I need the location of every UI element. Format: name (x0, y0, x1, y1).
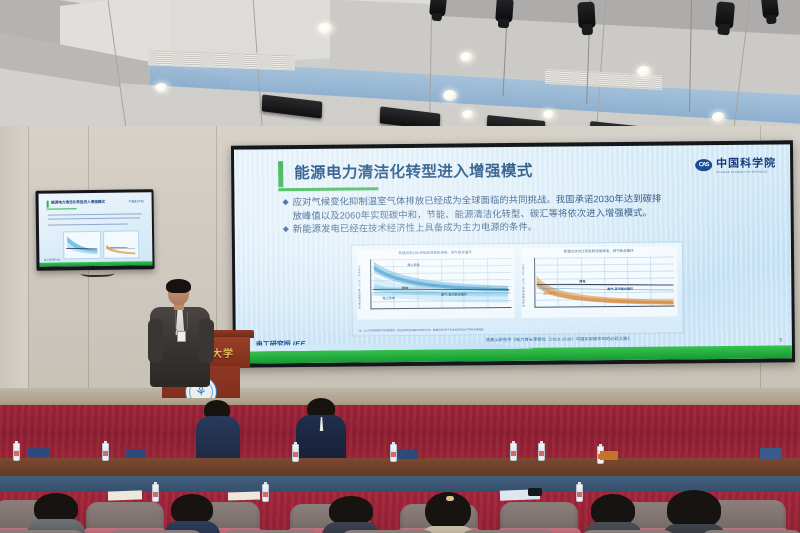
document-on-desk (108, 490, 142, 500)
audience-person (590, 494, 636, 533)
chart-title: 新建光伏对比现役和增量煤电、燃气联合循环 (520, 247, 677, 254)
cas-name: 中国科学院 (716, 154, 776, 171)
document-on-desk (228, 491, 260, 500)
audience-person (33, 493, 79, 533)
bullet-diamond-icon: ◆ (282, 196, 288, 208)
cas-seal-icon: CAS (695, 159, 712, 171)
ceiling-downlight-icon (443, 90, 457, 101)
bullet-diamond-icon: ◆ (283, 223, 289, 235)
slide-footer-bar (236, 345, 792, 363)
speaker-person (150, 281, 212, 401)
slide-citation: 落基山研究所《电力增长零碳化（2020-2030）中国实现碳中和的必经之路》 (346, 335, 772, 345)
projection-screen-frame: 能源电力清洁化转型进入增强模式 CAS 中国科学院 CHINESE ACADEM… (231, 140, 795, 367)
audience-person (170, 494, 214, 533)
audience-person (666, 490, 722, 533)
water-bottle (152, 484, 159, 502)
water-bottle (538, 443, 545, 461)
ceiling-downlight-icon (712, 112, 725, 122)
chart-series-label: 燃气-蒸汽联合循环 (607, 287, 633, 291)
monitor-footer-bar (39, 261, 152, 267)
monitor-cas-logo: 中国科学院 (129, 199, 145, 203)
hair-tie (446, 496, 454, 501)
cas-subname: CHINESE ACADEMY OF SCIENCES (716, 170, 776, 175)
phone-on-desk (528, 488, 542, 496)
water-bottle (13, 443, 20, 461)
water-bottle (262, 484, 269, 502)
chart-title: 新建风电对比现役和增量和煤电、燃气联合循环 (357, 249, 514, 256)
ceiling-downlight-icon (155, 83, 168, 92)
chart-solar: 新建光伏对比现役和增量煤电、燃气联合循环 平准化度电成本 LCOE（元/kWh） (520, 246, 677, 317)
audience-person (196, 400, 240, 460)
speaker-hair (166, 279, 191, 293)
chart-wind: 新建风电对比现役和增量和煤电、燃气联合循环 平准化度电成本 LCOE（元/kWh… (357, 248, 514, 319)
stage-light-icon (577, 2, 595, 29)
stage-light-icon (761, 0, 779, 19)
projection-screen: 能源电力清洁化转型进入增强模式 CAS 中国科学院 CHINESE ACADEM… (234, 144, 792, 363)
name-card (398, 450, 418, 459)
chart-series-label: 陆上风电 (383, 296, 395, 300)
slide-bullets: ◆ 应对气候变化抑制温室气体排放已经成为全球面临的共同挑战。我国承诺2030年达… (282, 191, 774, 237)
ceiling-downlight-icon (462, 110, 474, 119)
chart-y-axis-label: 平准化度电成本 LCOE（元/kWh） (522, 262, 526, 307)
audience-seat (86, 502, 164, 533)
ceiling-downlight-icon (460, 52, 473, 62)
title-accent-bar (278, 161, 283, 187)
speaker-arm-right (199, 319, 214, 363)
chart-plot-area: 煤电 光伏发电 燃气-蒸汽联合循环 0.70.6 0.50.4 0.30.2 0… (534, 256, 675, 307)
audience-person (328, 496, 374, 533)
ceiling-downlight-icon (637, 66, 651, 77)
audience-person (424, 492, 472, 533)
chart-series-label: 燃气-蒸汽联合循环 (441, 293, 467, 297)
audience-seat (500, 502, 578, 533)
chart-series-label: 煤电 (402, 286, 408, 290)
name-card (126, 449, 146, 458)
stage-light-icon (495, 0, 514, 23)
speaker-badge (177, 331, 186, 342)
chart-series-label: 光伏发电 (543, 292, 555, 296)
chart-series-label: 煤电 (579, 279, 585, 283)
name-card (600, 451, 618, 460)
chart-y-axis-label: 平准化度电成本 LCOE（元/kWh） (358, 263, 362, 308)
chart-series-label: 海上风电 (407, 263, 419, 267)
speaker-lanyard (175, 311, 188, 331)
monitor-slide-title: 能源电力清洁化转型进入增强模式 (51, 199, 105, 205)
slide-page-number: 3 (779, 337, 782, 343)
water-bottle (292, 444, 299, 462)
bullet-text: 新能源发电已经在技术经济性上具备成为主力电源的条件。 (293, 221, 537, 236)
audience-area (0, 406, 800, 533)
cas-logo: CAS 中国科学院 CHINESE ACADEMY OF SCIENCES (695, 154, 776, 175)
confidence-monitor-screen: 能源电力清洁化转型进入增强模式 中国科学院 电工研究所 IEE (38, 192, 152, 267)
water-bottle (576, 484, 583, 502)
cas-seal-text: CAS (699, 162, 709, 168)
water-bottle (390, 444, 397, 462)
name-card (28, 448, 50, 457)
monitor-title-rule (46, 208, 76, 209)
stage-light-icon (715, 1, 735, 28)
speaker-arm-left (148, 319, 163, 363)
monitor-cable (81, 268, 115, 277)
name-card (760, 448, 782, 459)
ceiling-downlight-icon (543, 110, 555, 119)
water-bottle (510, 443, 517, 461)
chart-plot-area: 海上风电 煤电 陆上风电 燃气-蒸汽联合循环 0.70.6 0.50.4 0.3… (370, 258, 511, 309)
monitor-title-accent (46, 200, 48, 207)
ceiling-downlight-icon (318, 23, 333, 34)
water-bottle (102, 443, 109, 461)
slide-title: 能源电力清洁化转型进入增强模式 (294, 159, 533, 183)
confidence-monitor: 能源电力清洁化转型进入增强模式 中国科学院 电工研究所 IEE (35, 189, 154, 271)
charts-panel: 新建风电对比现役和增量和煤电、燃气联合循环 平准化度电成本 LCOE（元/kWh… (351, 241, 684, 336)
audience-person (296, 398, 346, 460)
chart-source-note: 注：以上为不同情景下的测算结果，包含不同的资源条件与造价水平，数据区间反映了技术… (359, 326, 677, 332)
title-underline (278, 187, 378, 190)
monitor-footer: 电工研究所 IEE (44, 257, 61, 261)
conference-hall-photo: 能源电力清洁化转型进入增强模式 中国科学院 电工研究所 IEE (0, 0, 800, 533)
stage-light-icon (429, 0, 447, 17)
